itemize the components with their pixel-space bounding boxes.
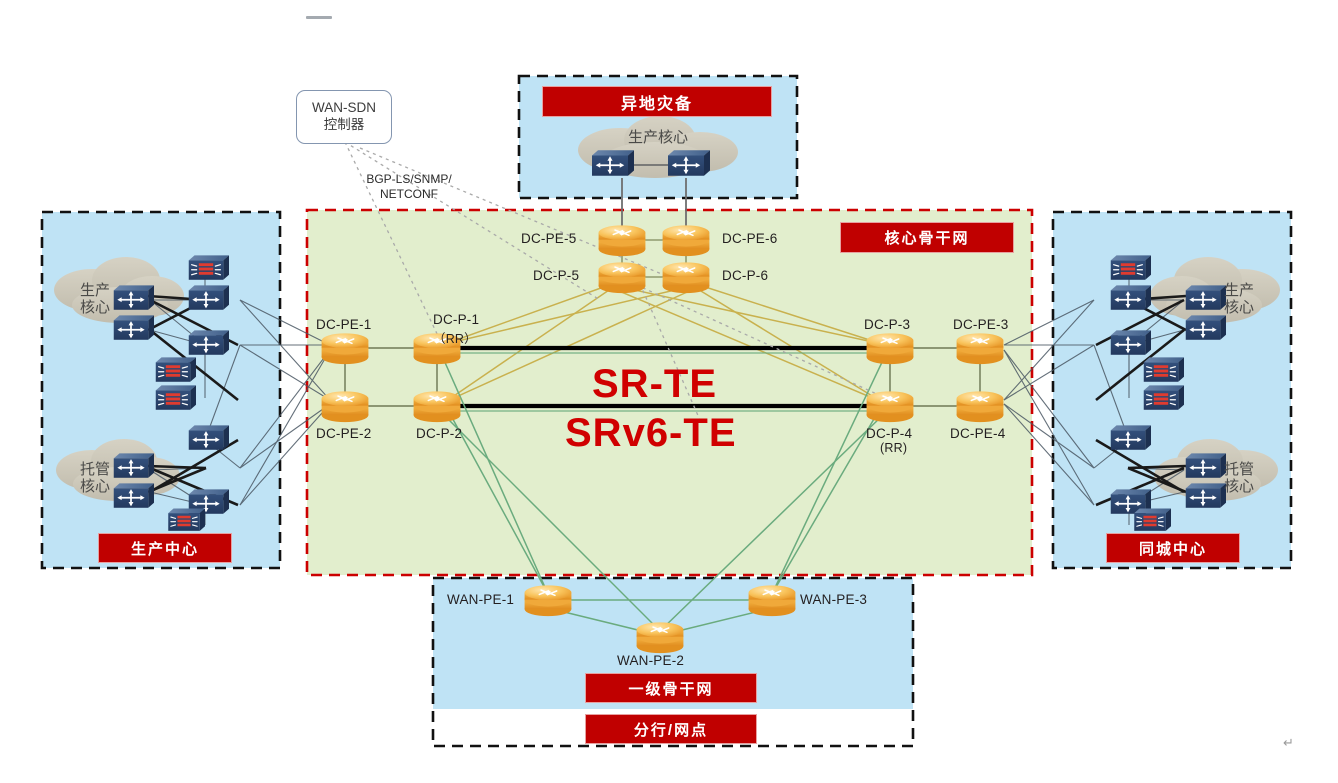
cloud-label-line2: 核心 [68, 300, 122, 317]
cloud-label-right-production-core: 生产 核心 [1212, 283, 1266, 317]
router-icon-wan-pe-1 [525, 585, 572, 616]
router-icon-dc-pe-1 [322, 333, 369, 364]
router-icon-dc-p-4 [867, 391, 914, 422]
pilcrow-mark: ↵ [1283, 735, 1294, 751]
cloud-label-left-hosting-core: 托管 核心 [68, 462, 122, 496]
switch-icon [1186, 315, 1226, 339]
label-dc-p-6: DC-P-6 [722, 268, 768, 283]
router-icon-dc-pe-4 [957, 391, 1004, 422]
firewall-icon [1134, 509, 1171, 531]
srv6-te-label: SRv6-TE [565, 411, 737, 456]
firewall-icon [1144, 385, 1184, 409]
banner-metro-center: 同城中心 [1106, 533, 1240, 563]
label-dc-pe-4: DC-PE-4 [950, 426, 1005, 441]
cloud-label-right-hosting-core: 托管 核心 [1212, 462, 1266, 496]
label-wan-pe-2: WAN-PE-2 [617, 653, 684, 668]
cloud-label-line1: 生产 [1212, 283, 1266, 300]
banner-production-center: 生产中心 [98, 533, 232, 563]
label-dc-p-4-rr: (RR) [880, 441, 907, 455]
label-dc-p-2: DC-P-2 [416, 426, 462, 441]
sr-te-label: SR-TE [592, 362, 717, 407]
switch-icon [189, 285, 229, 309]
label-dc-pe-6: DC-PE-6 [722, 231, 777, 246]
protocol-label: BGP-LS/SNMP/ NETCONF [344, 172, 474, 202]
router-icon-dc-p-6 [663, 262, 710, 293]
router-icon-dc-pe-6 [663, 225, 710, 256]
router-icon-wan-pe-2 [637, 622, 684, 653]
router-icon-dc-pe-5 [599, 225, 646, 256]
router-icon-dc-p-3 [867, 333, 914, 364]
cloud-label-left-production-core: 生产 核心 [68, 283, 122, 317]
firewall-icon [168, 509, 205, 531]
cloud-label-line2: 核心 [1212, 300, 1266, 317]
firewall-icon [189, 255, 229, 279]
label-dc-pe-5: DC-PE-5 [521, 231, 576, 246]
cloud-label-line1: 托管 [68, 462, 122, 479]
label-dc-p-3: DC-P-3 [864, 317, 910, 332]
switch-icon [189, 425, 229, 449]
router-icon-dc-p-2 [414, 391, 461, 422]
switch-icon [592, 150, 634, 176]
firewall-icon [1144, 357, 1184, 381]
switch-icon [1111, 425, 1151, 449]
protocol-label-line2: NETCONF [344, 187, 474, 202]
firewall-icon [156, 385, 196, 409]
protocol-label-line1: BGP-LS/SNMP/ [344, 172, 474, 187]
switch-icon [1111, 285, 1151, 309]
router-icon-dc-p-5 [599, 262, 646, 293]
label-dc-pe-2: DC-PE-2 [316, 426, 371, 441]
label-dc-pe-1: DC-PE-1 [316, 317, 371, 332]
cloud-label-dr-production-core: 生产核心 [616, 130, 700, 147]
sdn-controller-line1: WAN-SDN [312, 100, 376, 117]
label-wan-pe-1: WAN-PE-1 [447, 592, 514, 607]
diagram-canvas: WAN-SDN 控制器 BGP-LS/SNMP/ NETCONF 异地灾备 核心… [0, 0, 1338, 783]
switch-icon [668, 150, 710, 176]
switch-icon [1111, 330, 1151, 354]
sdn-controller-line2: 控制器 [324, 117, 365, 134]
label-wan-pe-3: WAN-PE-3 [800, 592, 867, 607]
banner-core-backbone: 核心骨干网 [840, 222, 1014, 253]
switch-icon [114, 315, 154, 339]
banner-remote-dr: 异地灾备 [542, 86, 772, 117]
router-icon-dc-pe-3 [957, 333, 1004, 364]
banner-tier1-backbone: 一级骨干网 [585, 673, 757, 703]
banner-branch-site: 分行/网点 [585, 714, 757, 744]
firewall-icon [1111, 255, 1151, 279]
label-dc-p-5: DC-P-5 [533, 268, 579, 283]
router-icon-wan-pe-3 [749, 585, 796, 616]
cloud-label-line1: 生产 [68, 283, 122, 300]
label-dc-p-4: DC-P-4 [866, 426, 912, 441]
switch-icon [189, 330, 229, 354]
cloud-label-line2: 核心 [1212, 479, 1266, 496]
label-dc-p-1: DC-P-1 [433, 312, 479, 327]
cloud-label-line2: 核心 [68, 479, 122, 496]
cloud-label-line1: 托管 [1212, 462, 1266, 479]
label-dc-pe-3: DC-PE-3 [953, 317, 1008, 332]
firewall-icon [156, 357, 196, 381]
router-icon-dc-pe-2 [322, 391, 369, 422]
label-dc-p-1-rr: （RR） [433, 328, 477, 347]
wan-sdn-controller-box[interactable]: WAN-SDN 控制器 [296, 90, 392, 144]
top-artifact-mark [306, 16, 332, 19]
